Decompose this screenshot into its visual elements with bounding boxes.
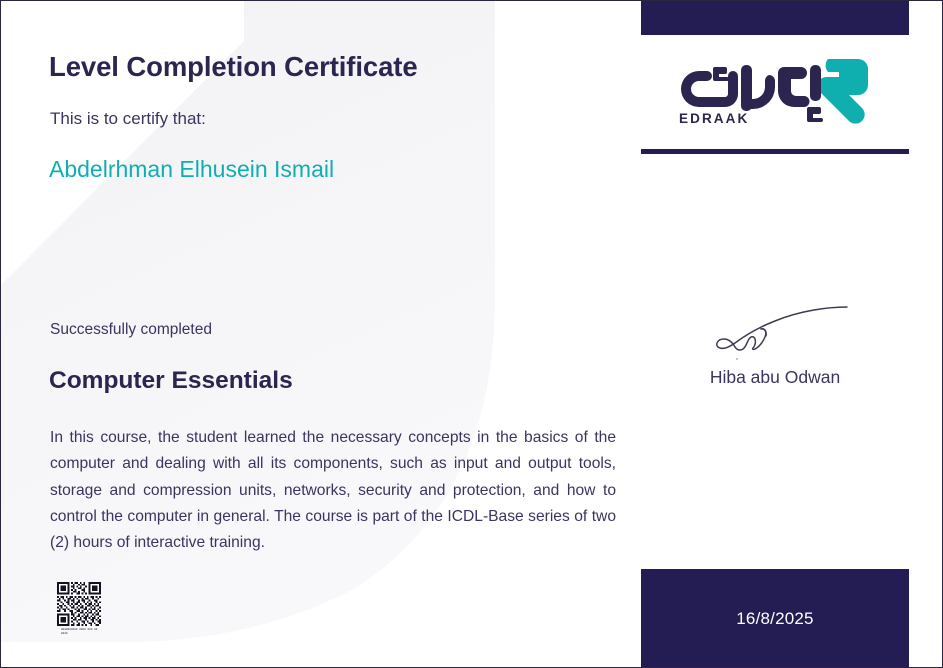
student-name: Abdelrhman Elhusein Ismail [49,156,334,183]
certificate-body: Level Completion Certificate This is to … [49,1,619,668]
certify-line: This is to certify that: [50,109,206,129]
handwritten-signature-icon [695,301,855,363]
page-title: Level Completion Certificate [49,51,418,83]
course-description: In this course, the student learned the … [50,425,616,556]
signature-block: Hiba abu Odwan [641,301,909,388]
edraak-logo: EDRAAK [641,45,909,137]
edraak-latin-wordmark: EDRAAK [679,111,749,126]
qr-code-icon[interactable] [57,582,101,626]
certificate-page: Level Completion Certificate This is to … [0,0,943,668]
issue-date-block: 16/8/2025 [641,569,909,668]
edraak-logo-icon: EDRAAK [669,53,881,129]
verification-block[interactable]: 0000000000 0000 000 000000 [57,582,103,635]
brand-top-bar [641,1,909,35]
issue-date: 16/8/2025 [736,609,813,629]
brand-divider [641,149,909,154]
completion-label: Successfully completed [50,321,212,339]
signatory-name: Hiba abu Odwan [641,367,909,388]
teal-arrow-mark-icon [818,59,868,124]
verification-caption: 0000000000 0000 000 000000 [61,628,99,635]
course-name: Computer Essentials [49,367,293,395]
